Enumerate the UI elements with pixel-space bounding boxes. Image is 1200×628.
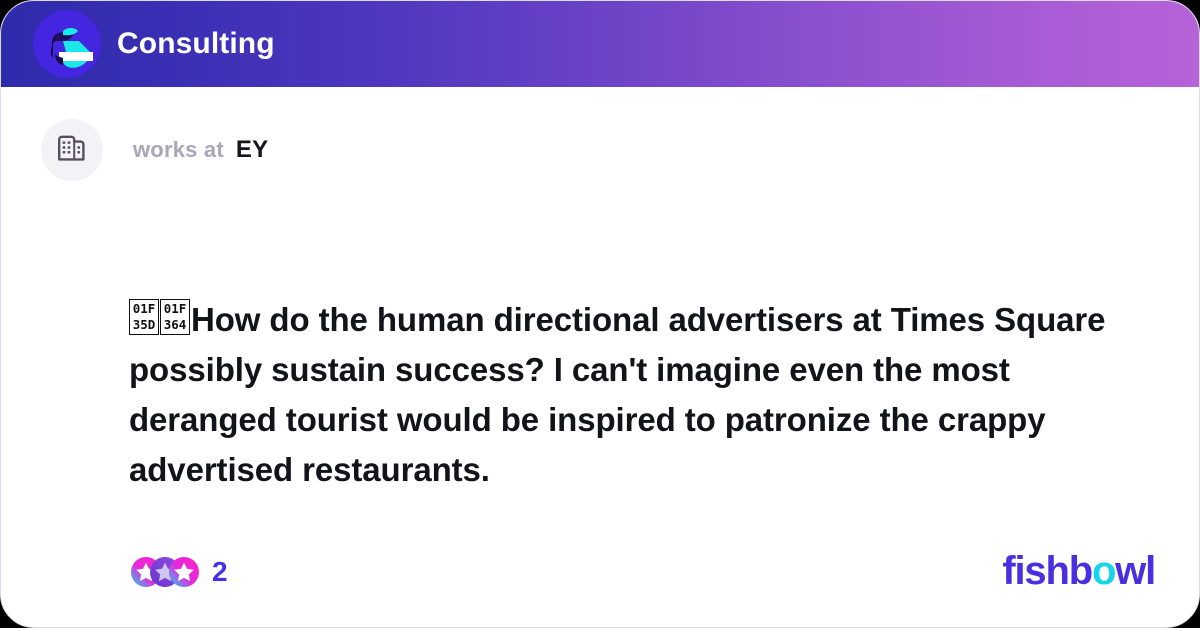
- author-meta: works at EY: [133, 136, 268, 164]
- post-text-body: How do the human directional advertisers…: [129, 301, 1105, 488]
- wordmark-part1: fishb: [1002, 549, 1092, 593]
- missing-glyph-box-1: 01F35D: [129, 299, 159, 335]
- company-name: EY: [236, 136, 268, 164]
- star-reaction-icon[interactable]: [169, 557, 199, 587]
- channel-header: Consulting: [1, 1, 1199, 87]
- post-body: works at EY 01F35D01F364How do the human…: [1, 87, 1199, 627]
- tofu-1-top: 01F: [130, 301, 158, 317]
- post-footer: 2 fishbowl: [1, 517, 1199, 627]
- office-building-icon: [55, 131, 89, 170]
- tofu-1-bottom: 35D: [130, 317, 158, 333]
- avatar: [41, 119, 103, 181]
- post-text: 01F35D01F364How do the human directional…: [129, 295, 1141, 495]
- fishbowl-wordmark: fishbowl: [1002, 551, 1155, 591]
- works-at-label: works at: [133, 137, 224, 163]
- author-row[interactable]: works at EY: [41, 119, 268, 181]
- wordmark-accent-o: o: [1092, 549, 1115, 593]
- tofu-2-bottom: 364: [161, 317, 189, 333]
- fishbowl-logo-icon: [33, 10, 101, 78]
- reactions[interactable]: 2: [131, 557, 228, 587]
- missing-glyph-box-2: 01F364: [160, 299, 190, 335]
- wordmark-part2: wl: [1115, 549, 1155, 593]
- reaction-badge-stack[interactable]: [131, 557, 199, 587]
- reaction-count: 2: [212, 558, 228, 586]
- tofu-2-top: 01F: [161, 301, 189, 317]
- channel-title: Consulting: [117, 29, 275, 59]
- post-card: Consulting: [0, 0, 1200, 628]
